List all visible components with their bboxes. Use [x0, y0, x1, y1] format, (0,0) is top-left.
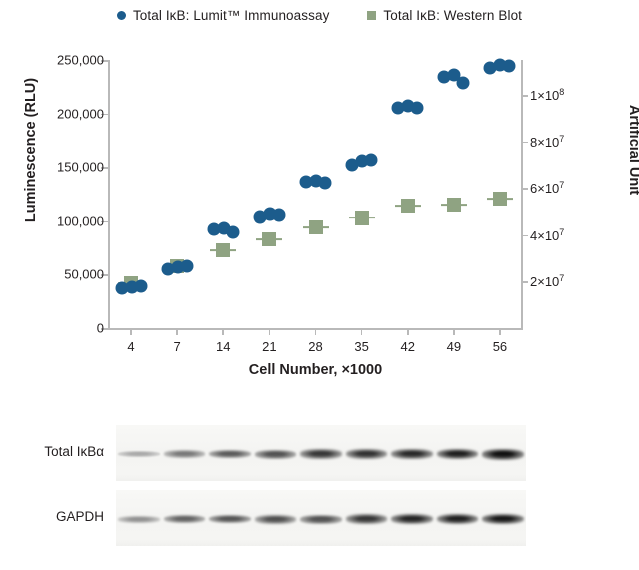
- x-tick: [130, 328, 132, 335]
- blot-lane: [389, 425, 435, 481]
- blot-band: [391, 449, 432, 459]
- x-axis-title: Cell Number, ×1000: [108, 362, 523, 378]
- x-tick: [499, 328, 501, 335]
- blot-lane: [480, 490, 526, 546]
- data-point-western-blot: [355, 211, 369, 225]
- data-point-western-blot: [216, 243, 230, 257]
- blot-band: [300, 515, 341, 524]
- x-tick: [222, 328, 224, 335]
- y-tick-label-right: 8×107: [530, 133, 564, 149]
- y-axis-left-spine: [108, 60, 110, 328]
- x-tick: [269, 328, 271, 335]
- blot-lane: [162, 425, 208, 481]
- y-axis-title-left: Luminescence (RLU): [23, 35, 39, 265]
- data-point-western-blot: [262, 232, 276, 246]
- blot-lane: [253, 490, 299, 546]
- data-point-lumit: [365, 153, 378, 166]
- y-tick-label-left: 100,000: [57, 213, 104, 228]
- y-tick-right: [521, 235, 528, 237]
- blot-label: Total IκBα: [0, 444, 104, 459]
- blot-image: [116, 490, 526, 546]
- data-point-western-blot: [447, 198, 461, 212]
- y-tick-label-right: 6×107: [530, 180, 564, 196]
- blot-band: [118, 451, 159, 457]
- data-point-western-blot: [401, 199, 415, 213]
- y-tick-right: [521, 188, 528, 190]
- x-tick: [453, 328, 455, 335]
- blot-lane: [116, 425, 162, 481]
- x-tick-label: 49: [447, 339, 461, 354]
- chart-legend: Total IκB: Lumit™ Immunoassay Total IκB:…: [0, 8, 639, 23]
- blot-lane: [344, 425, 390, 481]
- data-point-lumit: [503, 60, 516, 73]
- x-tick-label: 4: [127, 339, 134, 354]
- y-tick-label-left: 150,000: [57, 160, 104, 175]
- data-point-lumit: [180, 260, 193, 273]
- y-tick-label-right: 4×107: [530, 227, 564, 243]
- blot-lane: [162, 490, 208, 546]
- blot-label: GAPDH: [0, 509, 104, 524]
- square-marker-icon: [367, 11, 376, 20]
- y-axis-right-spine: [521, 60, 523, 328]
- data-point-lumit: [226, 225, 239, 238]
- blot-lane: [435, 490, 481, 546]
- x-tick: [315, 328, 317, 335]
- x-tick-label: 14: [216, 339, 230, 354]
- x-tick: [176, 328, 178, 335]
- y-tick-label-left: 0: [97, 321, 104, 336]
- y-tick-label-right: 1×108: [530, 87, 564, 103]
- blot-lane: [435, 425, 481, 481]
- data-point-lumit: [319, 177, 332, 190]
- legend-item-lumit: Total IκB: Lumit™ Immunoassay: [117, 8, 329, 23]
- x-tick-label: 7: [174, 339, 181, 354]
- y-tick-label-left: 250,000: [57, 53, 104, 68]
- blot-band: [164, 450, 205, 458]
- legend-label-western-blot: Total IκB: Western Blot: [383, 8, 522, 23]
- blot-band: [346, 514, 387, 524]
- y-axis-title-right: Artificial Unit: [626, 35, 639, 265]
- y-tick-right: [521, 281, 528, 283]
- data-point-lumit: [272, 209, 285, 222]
- data-point-western-blot: [309, 220, 323, 234]
- x-tick-label: 28: [308, 339, 322, 354]
- blot-band: [300, 449, 341, 459]
- blot-lane: [207, 425, 253, 481]
- y-tick-label-left: 200,000: [57, 106, 104, 121]
- scatter-plot: Luminescence (RLU) Artificial Unit Cell …: [0, 38, 639, 398]
- x-tick-label: 42: [400, 339, 414, 354]
- legend-label-lumit: Total IκB: Lumit™ Immunoassay: [133, 8, 329, 23]
- blot-band: [437, 514, 478, 524]
- blot-band: [482, 514, 523, 525]
- data-point-lumit: [134, 280, 147, 293]
- circle-marker-icon: [117, 11, 126, 20]
- blot-lane: [298, 425, 344, 481]
- y-tick-right: [521, 142, 528, 144]
- blot-band: [391, 514, 432, 524]
- blot-band: [118, 516, 159, 523]
- x-tick: [407, 328, 409, 335]
- blot-lane: [207, 490, 253, 546]
- blot-lane: [344, 490, 390, 546]
- legend-item-western-blot: Total IκB: Western Blot: [367, 8, 522, 23]
- x-tick-label: 21: [262, 339, 276, 354]
- data-point-western-blot: [493, 192, 507, 206]
- blot-lane: [389, 490, 435, 546]
- x-tick: [361, 328, 363, 335]
- blot-band: [164, 515, 205, 523]
- x-tick-label: 56: [493, 339, 507, 354]
- blot-band: [255, 515, 296, 524]
- data-point-lumit: [457, 76, 470, 89]
- y-tick-right: [521, 95, 528, 97]
- blot-lane: [480, 425, 526, 481]
- data-point-lumit: [411, 102, 424, 115]
- blot-lane: [253, 425, 299, 481]
- blot-band: [346, 449, 387, 459]
- blot-band: [209, 515, 250, 524]
- y-tick-label-right: 2×107: [530, 273, 564, 289]
- blot-image: [116, 425, 526, 481]
- blot-band: [482, 449, 523, 460]
- y-tick-label-left: 50,000: [64, 267, 104, 282]
- blot-band: [209, 450, 250, 459]
- blot-lane: [116, 490, 162, 546]
- blot-band: [437, 449, 478, 460]
- blot-band: [255, 450, 296, 459]
- blot-lane: [298, 490, 344, 546]
- x-tick-label: 35: [354, 339, 368, 354]
